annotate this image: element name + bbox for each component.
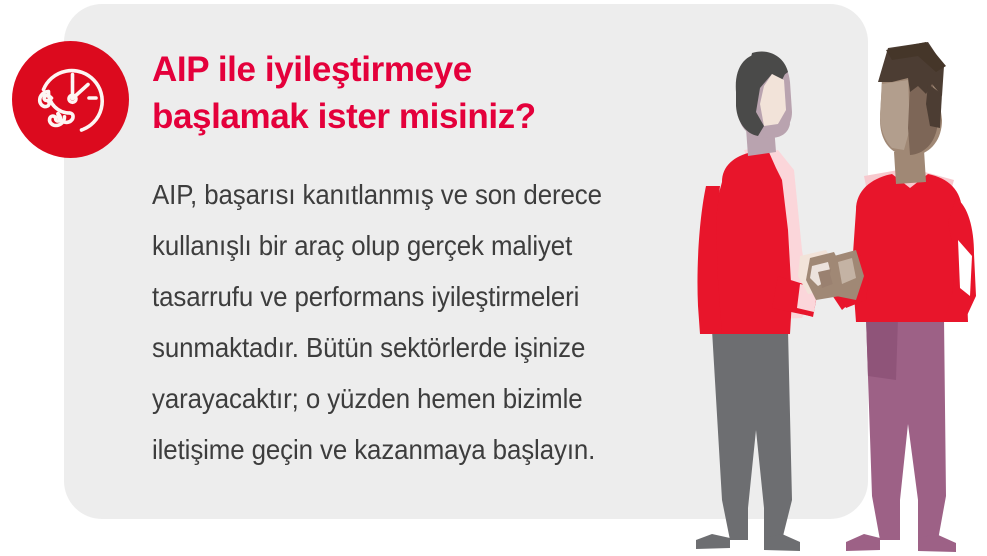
- phone-clock-icon: [12, 41, 129, 158]
- handshake: [798, 250, 864, 300]
- page-title: AIP ile iyileştirmeye başlamak ister mis…: [152, 46, 672, 140]
- promo-banner: AIP ile iyileştirmeye başlamak ister mis…: [0, 0, 987, 556]
- body-paragraph: AIP, başarısı kanıtlanmış ve son derece …: [152, 140, 641, 475]
- figure-left: [696, 52, 818, 551]
- text-column: AIP ile iyileştirmeye başlamak ister mis…: [152, 46, 672, 475]
- two-people-handshake-illustration: [660, 0, 987, 556]
